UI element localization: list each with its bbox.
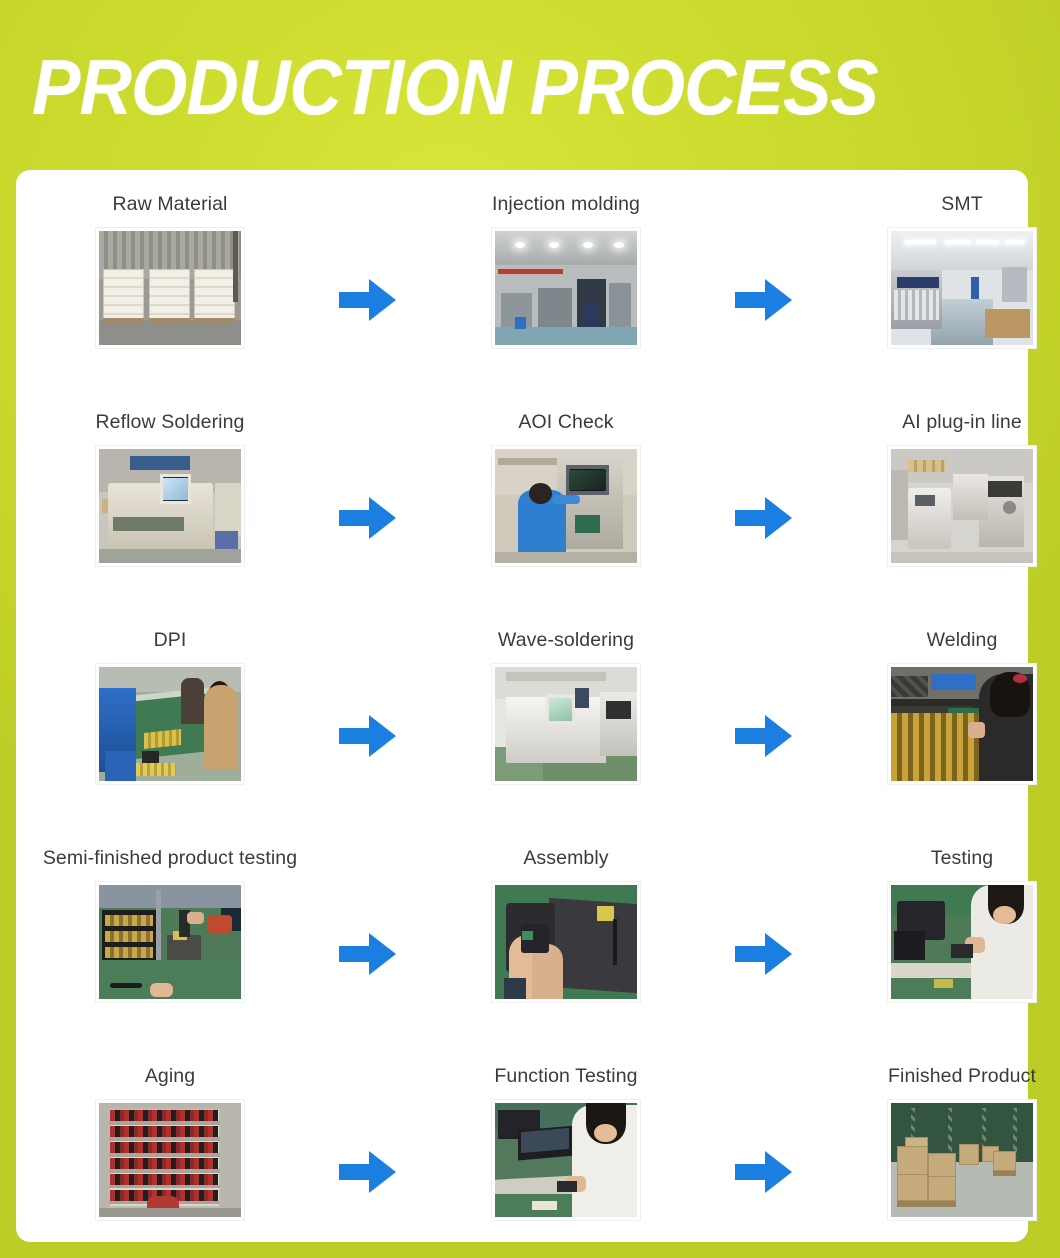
- aging-photo: [96, 1100, 244, 1220]
- arrow-cell: [720, 830, 808, 1048]
- injection-molding-photo: [492, 228, 640, 348]
- arrow-cell: [324, 394, 412, 612]
- right-arrow-icon: [339, 713, 397, 759]
- right-arrow-icon: [339, 495, 397, 541]
- semi-finished-product-testing-photo: [96, 882, 244, 1002]
- process-step-smt[interactable]: SMT: [808, 176, 1060, 394]
- process-step-ai-plug-in-line[interactable]: AI plug-in line: [808, 394, 1060, 612]
- reflow-soldering-photo: [96, 446, 244, 566]
- step-label: Injection molding: [492, 192, 640, 216]
- step-label: Wave-soldering: [498, 628, 634, 652]
- right-arrow-icon: [339, 931, 397, 977]
- step-label: AI plug-in line: [902, 410, 1022, 434]
- process-step-semi-finished-product-testing[interactable]: Semi-finished product testing: [16, 830, 324, 1048]
- process-row: DPI Wave-: [16, 612, 1028, 830]
- aoi-check-photo: [492, 446, 640, 566]
- right-arrow-icon: [735, 931, 793, 977]
- process-step-aoi-check[interactable]: AOI Check: [412, 394, 720, 612]
- testing-photo: [888, 882, 1036, 1002]
- step-label: Welding: [927, 628, 998, 652]
- arrow-cell: [720, 1048, 808, 1258]
- step-label: Testing: [931, 846, 994, 870]
- right-arrow-icon: [735, 277, 793, 323]
- arrow-cell: [720, 176, 808, 394]
- finished-product-photo: [888, 1100, 1036, 1220]
- process-row: Aging: [16, 1048, 1028, 1258]
- process-step-welding[interactable]: Welding: [808, 612, 1060, 830]
- step-label: Reflow Soldering: [95, 410, 244, 434]
- process-step-function-testing[interactable]: Function Testing: [412, 1048, 720, 1258]
- right-arrow-icon: [735, 713, 793, 759]
- arrow-cell: [324, 176, 412, 394]
- step-label: Assembly: [523, 846, 608, 870]
- process-step-finished-product[interactable]: Finished Product: [808, 1048, 1060, 1258]
- raw-material-photo: [96, 228, 244, 348]
- process-step-testing[interactable]: Testing: [808, 830, 1060, 1048]
- step-label: Raw Material: [113, 192, 228, 216]
- step-label: Aging: [145, 1064, 195, 1088]
- process-step-assembly[interactable]: Assembly: [412, 830, 720, 1048]
- right-arrow-icon: [735, 1149, 793, 1195]
- step-label: SMT: [941, 192, 982, 216]
- step-label: Finished Product: [888, 1064, 1036, 1088]
- right-arrow-icon: [339, 277, 397, 323]
- assembly-photo: [492, 882, 640, 1002]
- arrow-cell: [324, 830, 412, 1048]
- process-step-dpi[interactable]: DPI: [16, 612, 324, 830]
- process-row: Reflow Soldering: [16, 394, 1028, 612]
- poster-header: PRODUCTION PROCESS: [0, 0, 1060, 168]
- process-step-reflow-soldering[interactable]: Reflow Soldering: [16, 394, 324, 612]
- page-title: PRODUCTION PROCESS: [32, 44, 878, 130]
- process-step-raw-material[interactable]: Raw Material: [16, 176, 324, 394]
- process-row: Semi-finished product testing: [16, 830, 1028, 1048]
- step-label: AOI Check: [518, 410, 613, 434]
- ai-plug-in-line-photo: [888, 446, 1036, 566]
- step-label: DPI: [154, 628, 187, 652]
- arrow-cell: [720, 394, 808, 612]
- process-grid: Raw Material: [16, 170, 1028, 1242]
- arrow-cell: [324, 1048, 412, 1258]
- process-step-aging[interactable]: Aging: [16, 1048, 324, 1258]
- step-label: Semi-finished product testing: [43, 846, 297, 870]
- production-process-poster: PRODUCTION PROCESS Raw Material: [0, 0, 1060, 1258]
- wave-soldering-photo: [492, 664, 640, 784]
- process-card: Raw Material: [16, 170, 1028, 1242]
- smt-line-photo: [888, 228, 1036, 348]
- right-arrow-icon: [339, 1149, 397, 1195]
- right-arrow-icon: [735, 495, 793, 541]
- arrow-cell: [324, 612, 412, 830]
- process-row: Raw Material: [16, 176, 1028, 394]
- function-testing-photo: [492, 1100, 640, 1220]
- arrow-cell: [720, 612, 808, 830]
- process-step-wave-soldering[interactable]: Wave-soldering: [412, 612, 720, 830]
- step-label: Function Testing: [494, 1064, 637, 1088]
- dpi-photo: [96, 664, 244, 784]
- welding-photo: [888, 664, 1036, 784]
- process-step-injection-molding[interactable]: Injection molding: [412, 176, 720, 394]
